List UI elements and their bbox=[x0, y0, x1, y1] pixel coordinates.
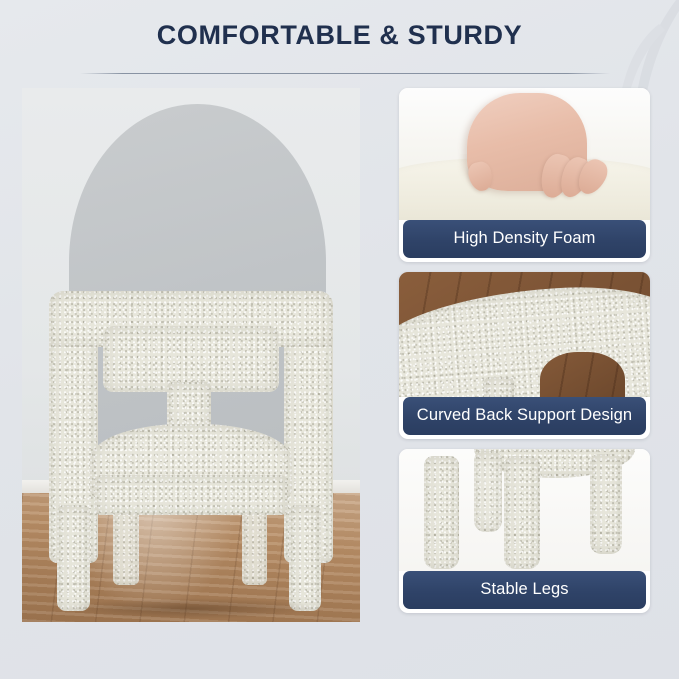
curved-back-photo bbox=[399, 272, 650, 397]
marketing-image-canvas: COMFORTABLE & STURDY bbox=[0, 0, 679, 679]
stable-legs-photo bbox=[399, 449, 650, 571]
foam-press-photo bbox=[399, 88, 650, 220]
feature-card-high-density-foam: High Density Foam bbox=[399, 88, 650, 262]
feature-label-curved-back-support: Curved Back Support Design bbox=[403, 397, 646, 435]
title-divider bbox=[80, 73, 610, 74]
stable-leg-1 bbox=[424, 456, 459, 568]
feature-card-column: High Density Foam Curved Back Support De… bbox=[399, 88, 650, 623]
chair-front-right-leg bbox=[289, 505, 321, 612]
chair-front-left-leg bbox=[57, 505, 89, 612]
backrest-support-post bbox=[484, 377, 514, 397]
feature-card-stable-legs: Stable Legs bbox=[399, 449, 650, 613]
feature-label-high-density-foam: High Density Foam bbox=[403, 220, 646, 258]
stable-leg-4 bbox=[590, 454, 623, 554]
page-title: COMFORTABLE & STURDY bbox=[0, 20, 679, 51]
chair-floor-shadow bbox=[63, 598, 320, 619]
feature-label-stable-legs: Stable Legs bbox=[403, 571, 646, 609]
hero-chair-photo bbox=[22, 88, 360, 622]
backrest-cutout-gap bbox=[540, 352, 625, 397]
stable-leg-3 bbox=[504, 456, 539, 568]
chair-seat-base bbox=[95, 475, 288, 515]
stable-leg-2 bbox=[474, 451, 502, 532]
chair-center-tab bbox=[167, 382, 211, 430]
feature-card-curved-back-support: Curved Back Support Design bbox=[399, 272, 650, 439]
